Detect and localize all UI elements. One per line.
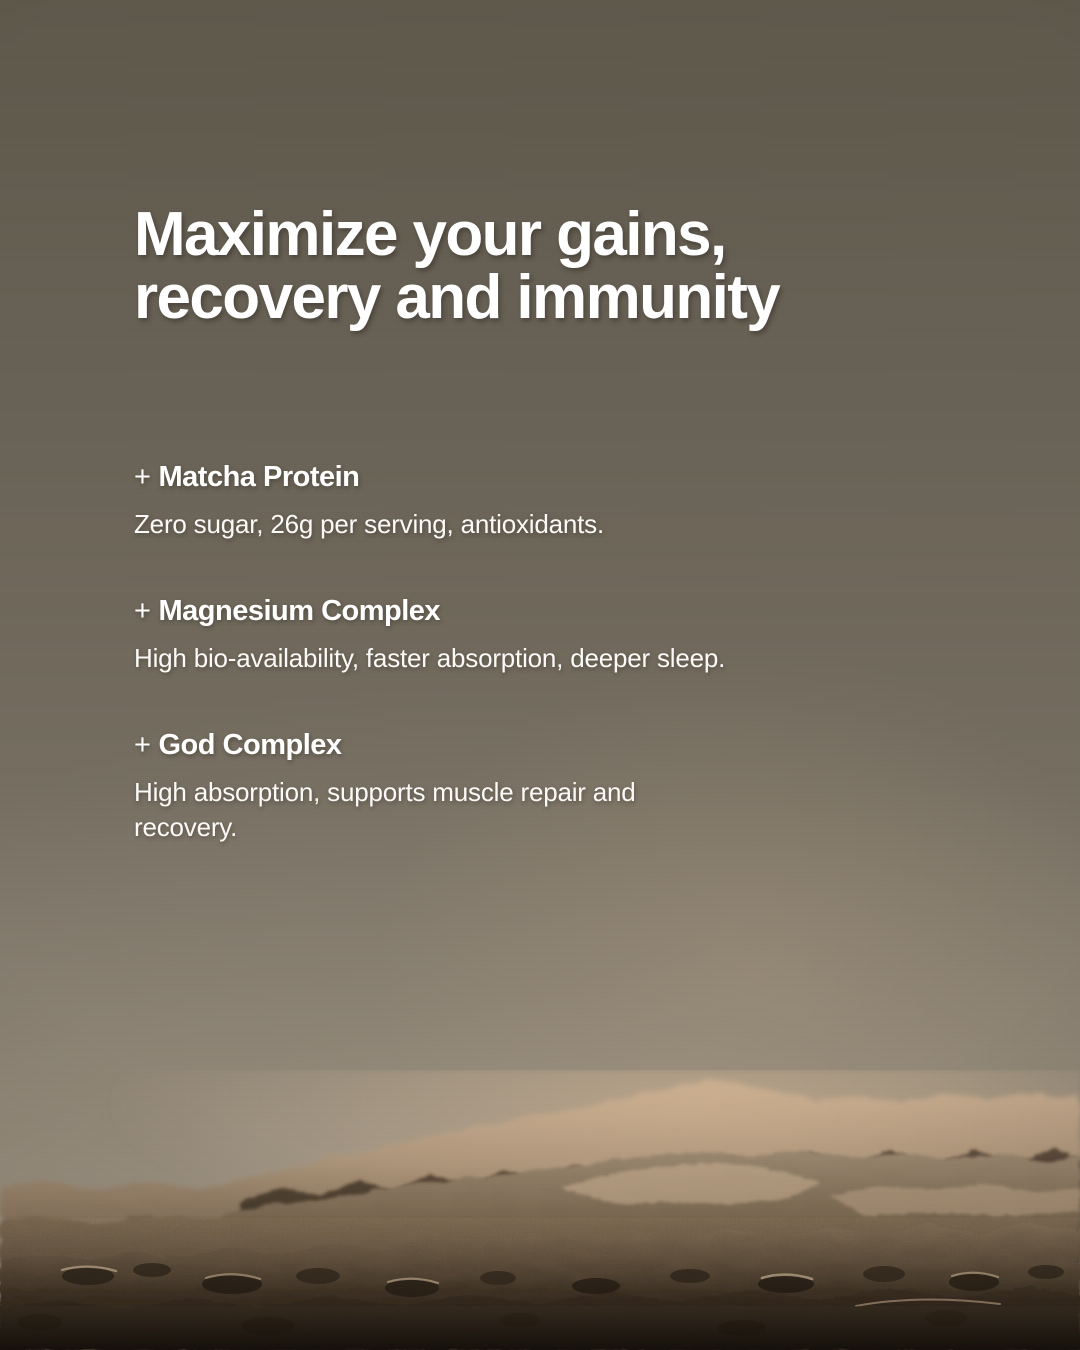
feature-title: + Matcha Protein [134, 460, 934, 494]
feature-title: + God Complex [134, 728, 934, 762]
page-title: Maximize your gains, recovery and immuni… [134, 203, 934, 329]
feature-name: Matcha Protein [159, 461, 360, 493]
content-layer: Maximize your gains, recovery and immuni… [0, 0, 1080, 1350]
feature-item-magnesium-complex: + Magnesium Complex High bio-availabilit… [134, 594, 934, 676]
plus-icon: + [134, 461, 151, 493]
headline-line-1: Maximize your gains, [134, 203, 934, 266]
feature-item-god-complex: + God Complex High absorption, supports … [134, 728, 934, 845]
plus-icon: + [134, 595, 151, 627]
feature-list: + Matcha Protein Zero sugar, 26g per ser… [134, 460, 934, 845]
plus-icon: + [134, 729, 151, 761]
feature-description: High bio-availability, faster absorption… [134, 641, 754, 676]
feature-name: God Complex [159, 729, 342, 761]
headline-line-2: recovery and immunity [134, 266, 934, 329]
feature-item-matcha-protein: + Matcha Protein Zero sugar, 26g per ser… [134, 460, 934, 542]
feature-title: + Magnesium Complex [134, 594, 934, 628]
poster: Maximize your gains, recovery and immuni… [0, 0, 1080, 1350]
feature-description: Zero sugar, 26g per serving, antioxidant… [134, 507, 754, 542]
feature-description: High absorption, supports muscle repair … [134, 775, 734, 845]
feature-name: Magnesium Complex [159, 595, 441, 627]
